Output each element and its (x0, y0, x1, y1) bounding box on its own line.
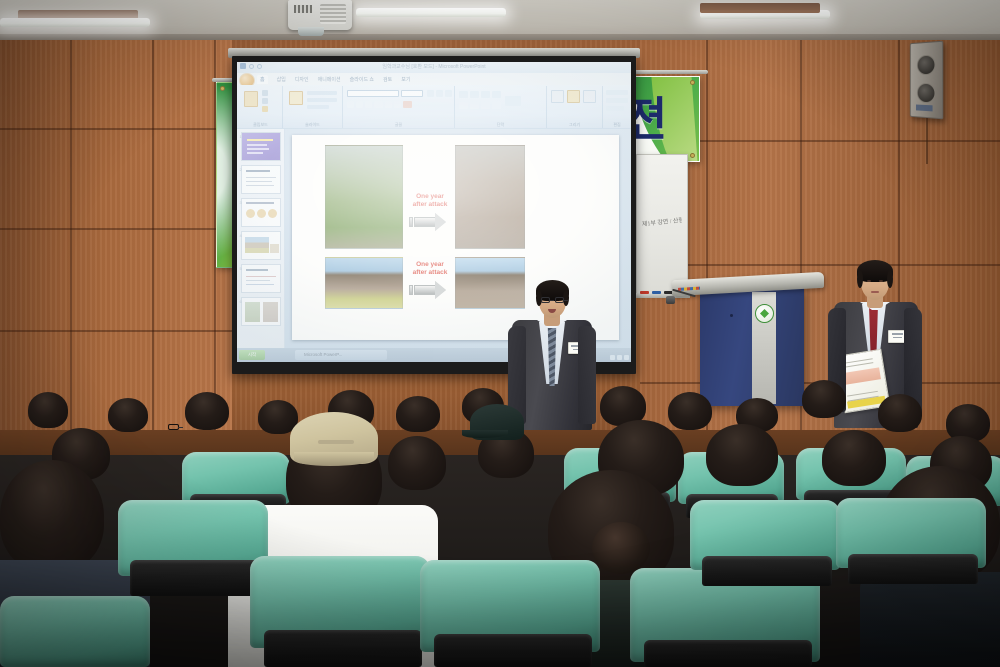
slide-number: 5 (240, 266, 242, 271)
tab-slideshow[interactable]: 슬라이드 쇼 (350, 76, 374, 83)
new-slide-icon[interactable] (289, 91, 303, 105)
auditorium-seat (0, 596, 150, 667)
font-name-combobox[interactable] (347, 90, 399, 97)
bullets-icon[interactable] (459, 91, 468, 98)
slide-photo-forest-after-top (455, 145, 525, 249)
blue-marker-icon (652, 291, 661, 294)
select-button[interactable] (606, 106, 624, 111)
hair-bun (592, 522, 650, 574)
convert-smartart-icon[interactable] (505, 96, 521, 106)
slide-thumbnail[interactable]: 4 (241, 231, 281, 260)
tray-icon[interactable] (624, 355, 629, 360)
layout-button[interactable] (307, 91, 337, 95)
slide-thumbnail[interactable]: 6 (241, 297, 281, 326)
ribbon-group-slides[interactable]: 슬라이드 (283, 86, 343, 128)
annotation-one-year-bottom: One year after attack (406, 261, 454, 277)
redo-icon[interactable] (257, 64, 262, 69)
slide-number: 4 (240, 233, 242, 238)
tab-review[interactable]: 검토 (383, 76, 392, 83)
slide-thumbnail-pane[interactable]: 1 2 3 (237, 129, 285, 348)
numbering-icon[interactable] (470, 91, 479, 98)
align-center-icon[interactable] (470, 102, 479, 109)
audience-dark-shirt (860, 572, 1000, 667)
paste-icon[interactable] (244, 91, 258, 107)
strikethrough-icon[interactable] (374, 101, 383, 108)
clear-format-icon[interactable] (445, 90, 452, 97)
tab-animations[interactable]: 애니메이션 (318, 76, 341, 83)
arrange-icon[interactable] (567, 90, 580, 103)
projector-lens-icon (298, 27, 324, 36)
fluorescent-tube-center (356, 8, 506, 17)
align-left-icon[interactable] (459, 102, 468, 109)
audience-member (185, 392, 229, 430)
tab-insert[interactable]: 삽입 (277, 76, 286, 83)
slide-thumbnail[interactable]: 3 (241, 198, 281, 227)
audience-member (388, 436, 446, 490)
presenter (506, 276, 598, 426)
bold-icon[interactable] (347, 101, 354, 108)
audience-glasses-icon (168, 424, 179, 430)
format-painter-icon[interactable] (262, 106, 268, 112)
audience-member (28, 392, 68, 428)
ribbon[interactable]: 클립보드 슬라이드 (237, 85, 631, 129)
ribbon-group-label-font: 글꼴 (343, 122, 454, 128)
audience-member (822, 430, 886, 486)
audience-member (668, 392, 712, 430)
save-icon[interactable] (240, 63, 246, 69)
slide-number: 6 (240, 299, 242, 304)
ribbon-group-editing[interactable]: 편집 (603, 86, 631, 128)
replace-button[interactable] (606, 98, 628, 103)
start-button[interactable]: 시작 (239, 350, 265, 360)
decrease-indent-icon[interactable] (481, 91, 490, 98)
audience-member (108, 398, 148, 432)
ribbon-group-drawing[interactable]: 그리기 (547, 86, 603, 128)
shapes-icon[interactable] (551, 90, 564, 103)
italic-icon[interactable] (356, 101, 363, 108)
text-shadow-icon[interactable] (385, 101, 392, 108)
taskbar-powerpoint-item[interactable]: Microsoft PowerP... (295, 350, 387, 360)
speaker-cable (926, 118, 928, 164)
slide-number: 1 (240, 134, 242, 139)
grow-font-icon[interactable] (427, 90, 434, 97)
slide-number: 2 (240, 167, 242, 172)
lecture-hall-photo: 젼 제1부 강연 / 산림피해 임학과교수님 [호환 모드] - Microso… (0, 0, 1000, 667)
tab-view[interactable]: 보기 (401, 76, 410, 83)
align-right-icon[interactable] (481, 102, 490, 109)
slide-number: 3 (240, 200, 242, 205)
quick-access-toolbar[interactable] (240, 63, 262, 69)
ribbon-group-clipboard[interactable]: 클립보드 (239, 86, 283, 128)
wall-speaker-icon (910, 41, 943, 120)
ribbon-group-label-drawing: 그리기 (547, 122, 602, 128)
microphone-base (666, 296, 675, 304)
tray-icon[interactable] (617, 355, 622, 360)
whiteboard: 제1부 강연 / 산림피해 (636, 154, 688, 294)
system-tray[interactable] (610, 355, 629, 360)
shrink-font-icon[interactable] (436, 90, 443, 97)
presenter-glasses-icon (541, 297, 550, 303)
ppt-title-bar: 임학과교수님 [호환 모드] - Microsoft PowerPoint (237, 62, 631, 73)
increase-indent-icon[interactable] (492, 91, 501, 98)
delete-slide-button[interactable] (307, 105, 329, 109)
left-wall-panel (0, 40, 232, 440)
audience-member (0, 460, 104, 572)
audience-member (878, 394, 922, 432)
slide-photo-forest-before-top (325, 145, 403, 249)
slide-photo-land-before-bottom (325, 257, 403, 309)
slide-thumbnail[interactable]: 1 (241, 132, 281, 161)
cut-icon[interactable] (262, 90, 268, 96)
copy-icon[interactable] (262, 98, 268, 104)
ribbon-group-paragraph[interactable]: 단락 (455, 86, 547, 128)
ribbon-group-label-paragraph: 단락 (455, 122, 546, 128)
slide-thumbnail[interactable]: 2 (241, 165, 281, 194)
tab-home[interactable]: 홈 (257, 75, 268, 84)
audience-member (396, 396, 440, 432)
podium (700, 288, 804, 406)
font-color-icon[interactable] (403, 101, 412, 108)
podium-emblem-icon (755, 304, 774, 323)
annotation-one-year-top: One year after attack (406, 193, 454, 209)
audience-member (802, 380, 846, 418)
underline-icon[interactable] (365, 101, 372, 108)
reset-button[interactable] (307, 98, 337, 102)
ribbon-group-font[interactable]: 글꼴 (343, 86, 455, 128)
undo-icon[interactable] (249, 64, 254, 69)
find-button[interactable] (606, 90, 628, 95)
ribbon-group-label-editing: 편집 (603, 122, 631, 128)
tray-icon[interactable] (610, 355, 615, 360)
ceiling-projector-icon (288, 0, 352, 30)
font-size-combobox[interactable] (401, 90, 423, 97)
slide-thumbnail[interactable]: 5 (241, 264, 281, 293)
red-marker-icon (640, 291, 649, 294)
ribbon-tabs[interactable]: 홈 삽입 디자인 애니메이션 슬라이드 쇼 검토 보기 (257, 74, 410, 85)
ribbon-group-label-slides: 슬라이드 (283, 122, 342, 128)
light-fixture-right (700, 3, 820, 13)
character-spacing-icon[interactable] (394, 101, 401, 108)
audience-member (706, 424, 778, 486)
fluorescent-tube-left (0, 18, 150, 27)
ribbon-group-label-clipboard: 클립보드 (239, 122, 282, 128)
whiteboard-handwriting: 제1부 강연 / 산림피해 (641, 215, 682, 233)
quick-styles-icon[interactable] (583, 90, 596, 103)
justify-icon[interactable] (492, 102, 501, 109)
tab-design[interactable]: 디자인 (295, 76, 309, 83)
